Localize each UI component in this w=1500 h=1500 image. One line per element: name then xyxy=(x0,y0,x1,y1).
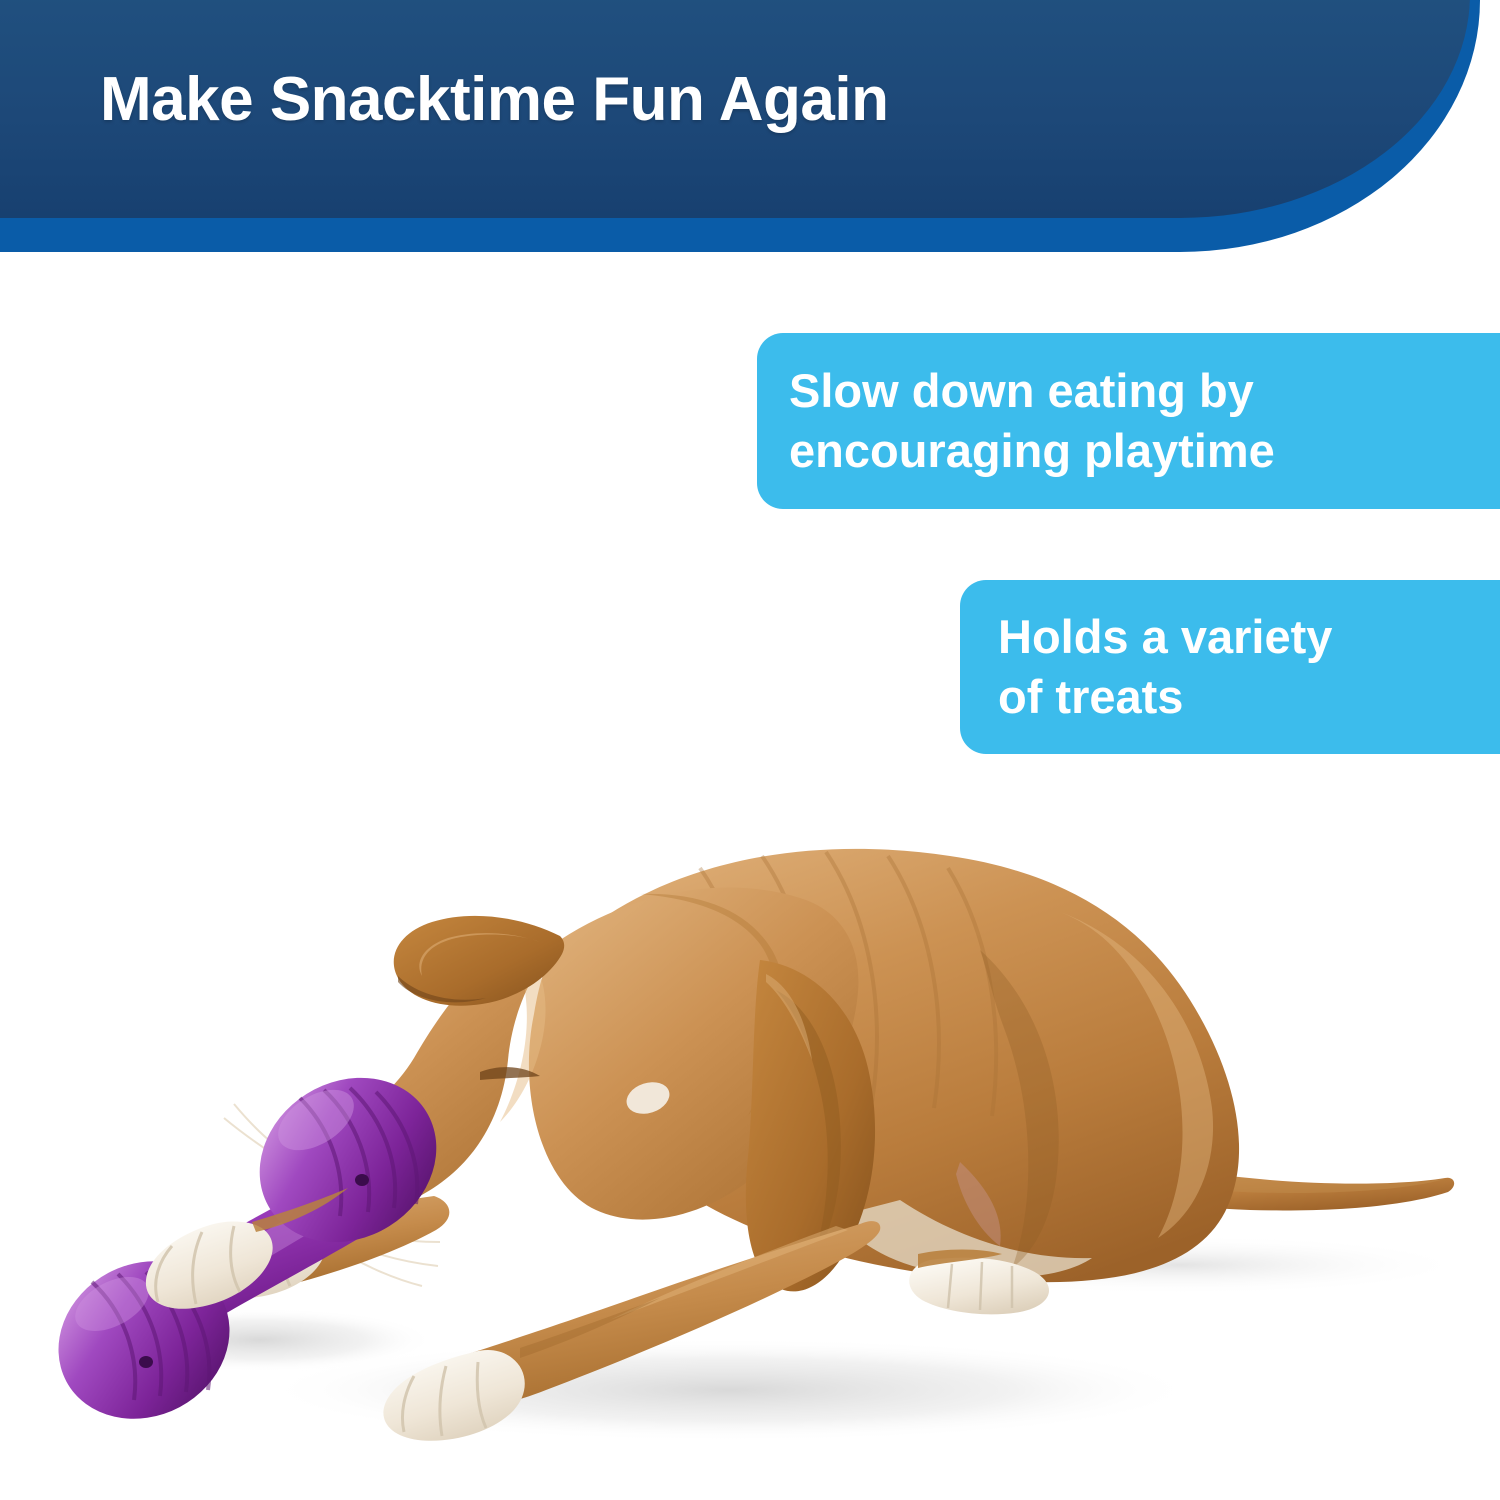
product-photo xyxy=(0,760,1500,1500)
product-marketing-image: Make Snacktime Fun Again Slow down eatin… xyxy=(0,0,1500,1500)
toy-lower-treat-hole xyxy=(139,1356,153,1368)
callout-slow-down-eating: Slow down eating by encouraging playtime xyxy=(757,333,1500,509)
callout-2-line-1: Holds a variety xyxy=(998,607,1500,667)
callout-1-line-2: encouraging playtime xyxy=(789,421,1500,481)
toy-upper-treat-hole xyxy=(355,1174,369,1186)
dog-with-toy-illustration xyxy=(0,760,1500,1500)
callout-2-line-2: of treats xyxy=(998,667,1500,727)
callout-1-line-1: Slow down eating by xyxy=(789,361,1500,421)
header-banner: Make Snacktime Fun Again xyxy=(0,0,1500,300)
page-title: Make Snacktime Fun Again xyxy=(100,66,888,134)
callout-holds-variety-of-treats: Holds a variety of treats xyxy=(960,580,1500,754)
